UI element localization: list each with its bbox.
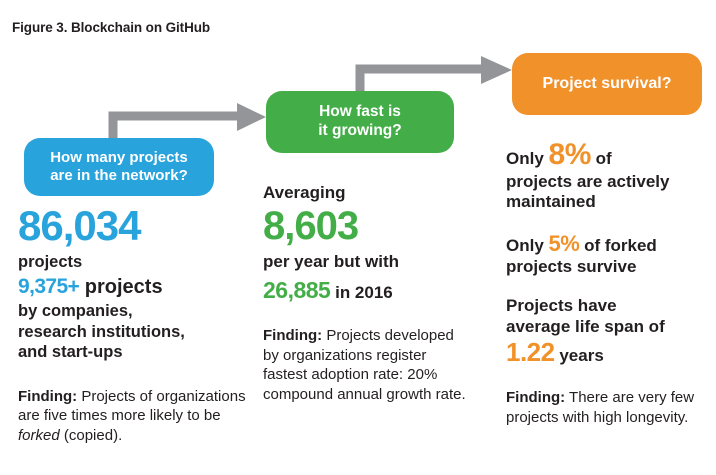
finding-projects-italic: forked bbox=[18, 427, 60, 444]
infographic-canvas: Figure 3. Blockchain on GitHub How many … bbox=[0, 0, 716, 475]
pill-how-many-projects[interactable]: How many projects are in the network? bbox=[24, 138, 214, 196]
stat-average-per-year-unit: per year but with bbox=[263, 252, 473, 272]
stat-life-span-unit: years bbox=[559, 346, 603, 365]
pill-green-line2: it growing? bbox=[318, 122, 402, 141]
stat-life-span-line1: Projects have bbox=[506, 296, 711, 316]
column-survival: Only 8% of projects are actively maintai… bbox=[506, 137, 711, 427]
stat-actively-maintained-number: 8% bbox=[549, 138, 591, 171]
stat-2016-projects-unit: in 2016 bbox=[335, 283, 393, 302]
stat-org-projects-detail-line3: and start-ups bbox=[18, 342, 250, 362]
stat-forked-survive-post: of forked bbox=[584, 236, 657, 255]
arrow-green-to-orange bbox=[360, 56, 512, 91]
page-title: Figure 3. Blockchain on GitHub bbox=[12, 20, 210, 35]
arrow-blue-to-green bbox=[113, 103, 266, 138]
stat-actively-maintained-line3: maintained bbox=[506, 192, 711, 212]
pill-green-line1: How fast is bbox=[318, 103, 402, 122]
stat-forked-survive-number: 5% bbox=[549, 231, 580, 256]
finding-projects-label: Finding: bbox=[18, 388, 77, 405]
stat-averaging-label: Averaging bbox=[263, 183, 473, 203]
stat-total-projects: 86,034 bbox=[18, 205, 250, 247]
stat-2016-projects-number: 26,885 bbox=[263, 277, 330, 303]
stat-org-projects-detail: by companies, research institutions, and… bbox=[18, 301, 250, 362]
stat-actively-maintained-post: of bbox=[596, 149, 612, 168]
stat-org-projects-detail-line2: research institutions, bbox=[18, 322, 250, 342]
stat-average-per-year: 8,603 bbox=[263, 206, 473, 246]
stat-org-projects-detail-line1: by companies, bbox=[18, 301, 250, 321]
finding-projects-text-b: (copied). bbox=[60, 427, 123, 444]
finding-projects: Finding: Projects of organizations are f… bbox=[18, 387, 250, 446]
stat-2016-projects: 26,885 in 2016 bbox=[263, 277, 473, 304]
stat-actively-maintained: Only 8% of projects are actively maintai… bbox=[506, 137, 711, 212]
finding-survival-label: Finding: bbox=[506, 389, 565, 406]
stat-life-span: Projects have average life span of 1.22 … bbox=[506, 296, 711, 367]
stat-org-projects: 9,375+ projects bbox=[18, 275, 250, 300]
stat-life-span-number: 1.22 bbox=[506, 337, 555, 367]
column-growth: Averaging 8,603 per year but with 26,885… bbox=[263, 183, 473, 404]
finding-survival: Finding: There are very few projects wit… bbox=[506, 388, 711, 427]
column-projects: 86,034 projects 9,375+ projects by compa… bbox=[18, 205, 250, 445]
stat-total-projects-unit: projects bbox=[18, 253, 250, 272]
stat-org-projects-number: 9,375+ bbox=[18, 275, 79, 298]
stat-actively-maintained-pre: Only bbox=[506, 149, 544, 168]
stat-org-projects-unit: projects bbox=[85, 276, 163, 298]
pill-blue-line1: How many projects bbox=[50, 149, 188, 167]
finding-growth: Finding: Projects developed by organizat… bbox=[263, 326, 473, 404]
pill-project-survival[interactable]: Project survival? bbox=[512, 53, 702, 115]
stat-forked-survive-pre: Only bbox=[506, 236, 544, 255]
pill-how-fast-growing[interactable]: How fast is it growing? bbox=[266, 91, 454, 153]
stat-forked-survive: Only 5% of forked projects survive bbox=[506, 231, 711, 277]
stat-actively-maintained-line2: projects are actively bbox=[506, 172, 711, 192]
stat-forked-survive-line2: projects survive bbox=[506, 257, 711, 277]
pill-orange-line1: Project survival? bbox=[543, 74, 672, 94]
stat-life-span-line2: average life span of bbox=[506, 317, 711, 337]
pill-blue-line2: are in the network? bbox=[50, 167, 188, 185]
finding-growth-label: Finding: bbox=[263, 327, 322, 344]
